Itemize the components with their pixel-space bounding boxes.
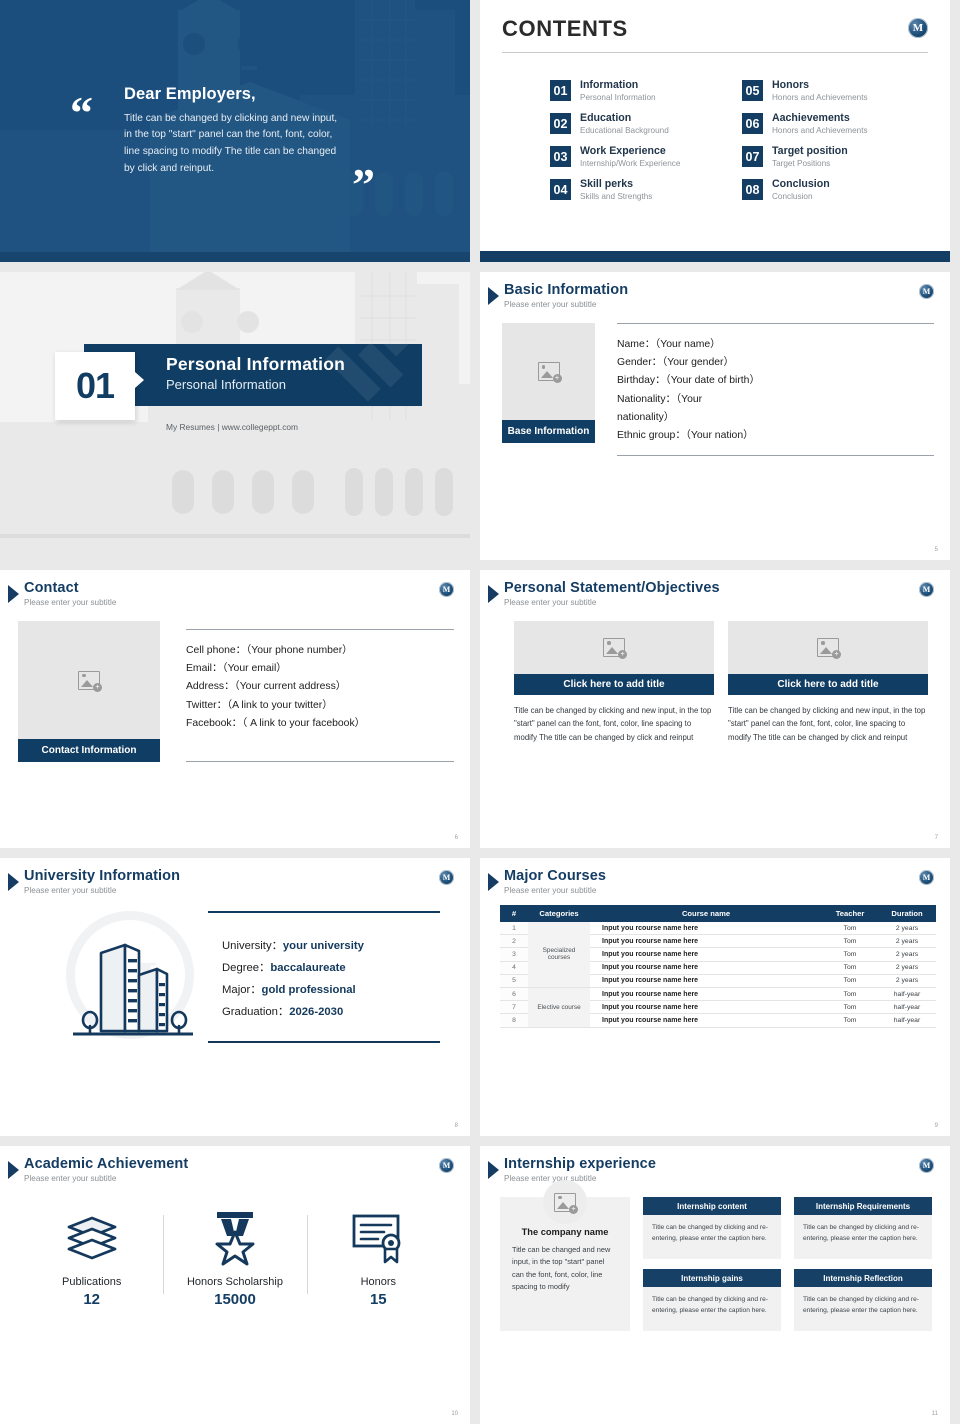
header-arrow-icon <box>488 287 499 305</box>
card-heading: Internship Requirements <box>794 1197 932 1215</box>
card-body: Title can be changed by clicking and re-… <box>794 1287 932 1331</box>
brand-logo-icon: M <box>919 1158 934 1173</box>
info-row-gender: Gender：（Your gender） <box>617 354 934 372</box>
photo-placeholder[interactable]: + <box>502 323 595 420</box>
table-header-row: # Categories Course name Teacher Duratio… <box>500 905 936 922</box>
page-title: Personal Statement/Objectives <box>504 580 720 596</box>
stat-honors-scholarship: Honors Scholarship 15000 <box>163 1209 306 1308</box>
page-subtitle: Please enter your subtitle <box>504 598 720 607</box>
toc-label: Information <box>580 79 656 92</box>
statement-card-2[interactable]: + Click here to add title Title can be c… <box>728 621 928 744</box>
contents-list: 01 Information Personal Information 05 H… <box>550 79 916 203</box>
image-placeholder-icon: + <box>554 1193 576 1212</box>
brand-logo-icon: M <box>919 582 934 597</box>
card-body: Title can be changed by clicking and new… <box>514 704 714 744</box>
toc-sublabel: Internship/Work Experience <box>580 159 680 170</box>
toc-label: Education <box>580 112 669 125</box>
basic-info-list: Name：（Your name） Gender：（Your gender） Bi… <box>617 323 934 456</box>
section-title: Personal Information <box>166 354 345 375</box>
page-number: 6 <box>455 835 458 841</box>
cell-category: Specialized courses <box>528 922 590 987</box>
cell-teacher: Tom <box>822 1014 878 1027</box>
stat-label: Honors <box>313 1276 444 1288</box>
cell-teacher: Tom <box>822 922 878 935</box>
toc-item-07[interactable]: 07 Target position Target Positions <box>742 145 916 169</box>
uni-value: 2026-2030 <box>289 1006 343 1018</box>
stat-label: Publications <box>26 1276 157 1288</box>
header-arrow-icon <box>488 1161 499 1179</box>
photo-placeholder[interactable]: + <box>728 621 928 674</box>
toc-number: 07 <box>742 146 763 167</box>
cover-title: Dear Employers, <box>124 85 339 104</box>
stat-label: Honors Scholarship <box>169 1276 300 1288</box>
slide-internship-experience: Internship experience Please enter your … <box>480 1146 950 1424</box>
page-subtitle: Please enter your subtitle <box>24 886 180 895</box>
header-arrow-icon <box>8 585 19 603</box>
page-number: 11 <box>932 1411 938 1417</box>
toc-sublabel: Conclusion <box>772 192 830 203</box>
toc-number: 04 <box>550 179 571 200</box>
photo-placeholder[interactable]: + <box>543 1180 587 1224</box>
contact-row-email: Email：（Your email） <box>186 660 454 678</box>
toc-sublabel: Educational Background <box>580 126 669 137</box>
toc-label: Honors <box>772 79 868 92</box>
logo-letter: M <box>443 586 451 594</box>
company-description: Title can be changed and new input, in t… <box>512 1244 618 1294</box>
brand-logo-icon: M <box>919 284 934 299</box>
internship-card-requirements[interactable]: Internship Requirements Title can be cha… <box>794 1197 932 1259</box>
toc-number: 02 <box>550 113 571 134</box>
toc-label: Work Experience <box>580 145 680 158</box>
slide-academic-achievement: Academic Achievement Please enter your s… <box>0 1146 470 1424</box>
cell-index: 4 <box>500 961 528 974</box>
page-title: Contact <box>24 580 116 596</box>
cell-index: 1 <box>500 922 528 935</box>
statement-card-1[interactable]: + Click here to add title Title can be c… <box>514 621 714 744</box>
table-row: 1 Specialized courses Input you rcourse … <box>500 922 936 935</box>
cell-duration: 2 years <box>878 935 936 948</box>
card-heading: Internship gains <box>643 1269 781 1287</box>
info-row-birthday: Birthday：（Your date of birth） <box>617 372 934 390</box>
cell-teacher: Tom <box>822 974 878 987</box>
slide-contact: Contact Please enter your subtitle M + C… <box>0 570 470 848</box>
uni-row-degree: Degree：baccalaureate <box>222 957 440 979</box>
page-subtitle: Please enter your subtitle <box>504 300 628 309</box>
photo-placeholder[interactable]: + <box>514 621 714 674</box>
uni-value: your university <box>283 940 364 952</box>
cell-duration: 2 years <box>878 974 936 987</box>
card-body: Title can be changed by clicking and new… <box>728 704 928 744</box>
cell-index: 3 <box>500 948 528 961</box>
cell-index: 5 <box>500 974 528 987</box>
photo-caption: Base Information <box>502 420 595 443</box>
toc-number: 01 <box>550 80 571 101</box>
certificate-icon <box>313 1209 444 1267</box>
info-row-name: Name：（Your name） <box>617 336 934 354</box>
uni-label: Graduation： <box>222 1006 289 1018</box>
contact-row-address: Address：（Your current address） <box>186 678 454 696</box>
university-details: University：your university Degree：baccal… <box>208 911 440 1043</box>
toc-sublabel: Honors and Achievements <box>772 93 868 104</box>
logo-letter: M <box>443 874 451 882</box>
card-heading: Internship Reflection <box>794 1269 932 1287</box>
brand-logo-icon: M <box>439 1158 454 1173</box>
stat-value: 12 <box>26 1291 157 1308</box>
cell-duration: half-year <box>878 1001 936 1014</box>
slide-section-divider: 01 Personal Information Personal Informa… <box>0 272 470 560</box>
photo-caption: Contact Information <box>18 739 160 762</box>
toc-label: Skill perks <box>580 178 652 191</box>
cell-course: Input you rcourse name here <box>590 961 822 974</box>
header-arrow-icon <box>488 585 499 603</box>
card-body: Title can be changed by clicking and re-… <box>794 1215 932 1259</box>
page-title: CONTENTS <box>502 16 628 42</box>
page-subtitle: Please enter your subtitle <box>504 1174 656 1183</box>
info-row-nationality-cont: nationality） <box>617 409 934 427</box>
uni-row-major: Major：gold professional <box>222 979 440 1001</box>
page-title: Major Courses <box>504 868 606 884</box>
contact-info-list: Cell phone：（Your phone number） Email：（Yo… <box>186 629 454 762</box>
slide-personal-statement: Personal Statement/Objectives Please ent… <box>480 570 950 848</box>
card-caption-button[interactable]: Click here to add title <box>728 674 928 695</box>
toc-item-06[interactable]: 06 Aachievements Honors and Achievements <box>742 112 916 136</box>
cover-body: Title can be changed by clicking and new… <box>124 111 339 177</box>
cell-teacher: Tom <box>822 961 878 974</box>
toc-sublabel: Personal Information <box>580 93 656 104</box>
slide-cover: “ ” Dear Employers, Title can be changed… <box>0 0 470 262</box>
page-title: Basic Information <box>504 282 628 298</box>
stat-value: 15 <box>313 1291 444 1308</box>
toc-label: Aachievements <box>772 112 868 125</box>
card-body: Title can be changed by clicking and re-… <box>643 1215 781 1259</box>
cell-course: Input you rcourse name here <box>590 948 822 961</box>
logo-letter: M <box>923 586 931 594</box>
photo-card[interactable]: + Base Information <box>502 323 595 456</box>
image-placeholder-icon: + <box>78 671 100 690</box>
cell-duration: 2 years <box>878 922 936 935</box>
page-number: 7 <box>935 835 938 841</box>
cell-course: Input you rcourse name here <box>590 974 822 987</box>
logo-letter: M <box>443 1162 451 1170</box>
toc-item-05[interactable]: 05 Honors Honors and Achievements <box>742 79 916 103</box>
toc-sublabel: Honors and Achievements <box>772 126 868 137</box>
logo-letter: M <box>923 1162 931 1170</box>
page-subtitle: Please enter your subtitle <box>24 1174 188 1183</box>
cell-index: 6 <box>500 987 528 1000</box>
page-title: Internship experience <box>504 1156 656 1172</box>
logo-letter: M <box>923 874 931 882</box>
section-number-box: 01 <box>55 352 135 420</box>
toc-sublabel: Skills and Strengths <box>580 192 652 203</box>
cell-duration: 2 years <box>878 948 936 961</box>
page-number: 9 <box>935 1123 938 1129</box>
cell-duration: half-year <box>878 987 936 1000</box>
section-arrow-icon <box>135 372 144 388</box>
courses-table: # Categories Course name Teacher Duratio… <box>500 905 936 1028</box>
cell-course: Input you rcourse name here <box>590 935 822 948</box>
table-row: 6 Elective course Input you rcourse name… <box>500 987 936 1000</box>
brand-logo-icon: M <box>908 18 928 38</box>
toc-sublabel: Target Positions <box>772 159 848 170</box>
cell-course: Input you rcourse name here <box>590 987 822 1000</box>
page-title: University Information <box>24 868 180 884</box>
brand-logo-icon: M <box>439 582 454 597</box>
stat-honors: Honors 15 <box>307 1209 450 1308</box>
info-row-ethnic: Ethnic group：（Your nation） <box>617 427 934 445</box>
stat-value: 15000 <box>169 1291 300 1308</box>
toc-item-04[interactable]: 04 Skill perks Skills and Strengths <box>550 178 724 202</box>
cell-teacher: Tom <box>822 948 878 961</box>
cell-teacher: Tom <box>822 935 878 948</box>
th-teacher: Teacher <box>822 905 878 922</box>
buildings-icon <box>73 927 193 1043</box>
header-arrow-icon <box>8 873 19 891</box>
page-number: 5 <box>935 547 938 553</box>
cell-index: 8 <box>500 1014 528 1027</box>
cell-course: Input you rcourse name here <box>590 922 822 935</box>
uni-label: University： <box>222 940 283 952</box>
card-caption-button[interactable]: Click here to add title <box>514 674 714 695</box>
slide-contents: CONTENTS M 01 Information Personal Infor… <box>480 0 950 262</box>
toc-label: Conclusion <box>772 178 830 191</box>
uni-value: baccalaureate <box>270 962 345 974</box>
toc-item-02[interactable]: 02 Education Educational Background <box>550 112 724 136</box>
toc-item-03[interactable]: 03 Work Experience Internship/Work Exper… <box>550 145 724 169</box>
uni-label: Major： <box>222 984 262 996</box>
cell-category: Elective course <box>528 987 590 1027</box>
page-subtitle: Please enter your subtitle <box>24 598 116 607</box>
uni-label: Degree： <box>222 962 270 974</box>
toc-number: 05 <box>742 80 763 101</box>
toc-item-08[interactable]: 08 Conclusion Conclusion <box>742 178 916 202</box>
page-subtitle: Please enter your subtitle <box>504 886 606 895</box>
th-course: Course name <box>590 905 822 922</box>
page-number: 10 <box>451 1411 458 1417</box>
section-subtitle: Personal Information <box>166 377 345 392</box>
cell-teacher: Tom <box>822 987 878 1000</box>
toc-item-01[interactable]: 01 Information Personal Information <box>550 79 724 103</box>
slide-major-courses: Major Courses Please enter your subtitle… <box>480 858 950 1136</box>
stat-publications: Publications 12 <box>20 1209 163 1308</box>
card-body: Title can be changed by clicking and re-… <box>643 1287 781 1331</box>
medal-icon <box>169 1209 300 1267</box>
slide-deck: “ ” Dear Employers, Title can be changed… <box>0 0 960 1424</box>
slide-university-information: University Information Please enter your… <box>0 858 470 1136</box>
toc-number: 08 <box>742 179 763 200</box>
th-duration: Duration <box>878 905 936 922</box>
slide-basic-information: Basic Information Please enter your subt… <box>480 272 950 560</box>
info-row-nationality: Nationality：（Your <box>617 391 934 409</box>
brand-logo-icon: M <box>439 870 454 885</box>
cell-index: 7 <box>500 1001 528 1014</box>
section-footer: My Resumes | www.collegeppt.com <box>166 422 298 432</box>
cell-course: Input you rcourse name here <box>590 1014 822 1027</box>
company-name: The company name <box>512 1227 618 1237</box>
brand-logo-icon: M <box>919 870 934 885</box>
logo-letter: M <box>913 23 923 34</box>
internship-card-content[interactable]: Internship content Title can be changed … <box>643 1197 781 1259</box>
image-placeholder-icon: + <box>538 362 560 381</box>
cell-duration: half-year <box>878 1014 936 1027</box>
uni-row-university: University：your university <box>222 935 440 957</box>
title-divider <box>502 52 928 53</box>
photo-card[interactable]: + Contact Information <box>18 621 160 762</box>
th-index: # <box>500 905 528 922</box>
contact-row-facebook: Facebook：（ A link to your facebook） <box>186 715 454 733</box>
logo-letter: M <box>923 288 931 296</box>
contact-row-cell: Cell phone：（Your phone number） <box>186 642 454 660</box>
internship-card-gains[interactable]: Internship gains Title can be changed by… <box>643 1269 781 1331</box>
image-placeholder-icon: + <box>817 638 839 657</box>
header-arrow-icon <box>488 873 499 891</box>
footer-bar <box>480 251 950 262</box>
contact-row-twitter: Twitter：（A link to your twitter） <box>186 697 454 715</box>
image-placeholder-icon: + <box>603 638 625 657</box>
page-title: Academic Achievement <box>24 1156 188 1172</box>
photo-placeholder[interactable]: + <box>18 621 160 739</box>
cell-teacher: Tom <box>822 1001 878 1014</box>
cell-index: 2 <box>500 935 528 948</box>
internship-card-reflection[interactable]: Internship Reflection Title can be chang… <box>794 1269 932 1331</box>
cell-duration: 2 years <box>878 961 936 974</box>
toc-label: Target position <box>772 145 848 158</box>
books-icon <box>26 1209 157 1267</box>
toc-number: 03 <box>550 146 571 167</box>
toc-number: 06 <box>742 113 763 134</box>
card-heading: Internship content <box>643 1197 781 1215</box>
uni-value: gold professional <box>262 984 356 996</box>
header-arrow-icon <box>8 1161 19 1179</box>
page-number: 8 <box>455 1123 458 1129</box>
company-card[interactable]: + The company name Title can be changed … <box>500 1197 630 1331</box>
section-number: 01 <box>76 365 114 407</box>
th-category: Categories <box>528 905 590 922</box>
cell-course: Input you rcourse name here <box>590 1001 822 1014</box>
uni-row-graduation: Graduation：2026-2030 <box>222 1001 440 1023</box>
